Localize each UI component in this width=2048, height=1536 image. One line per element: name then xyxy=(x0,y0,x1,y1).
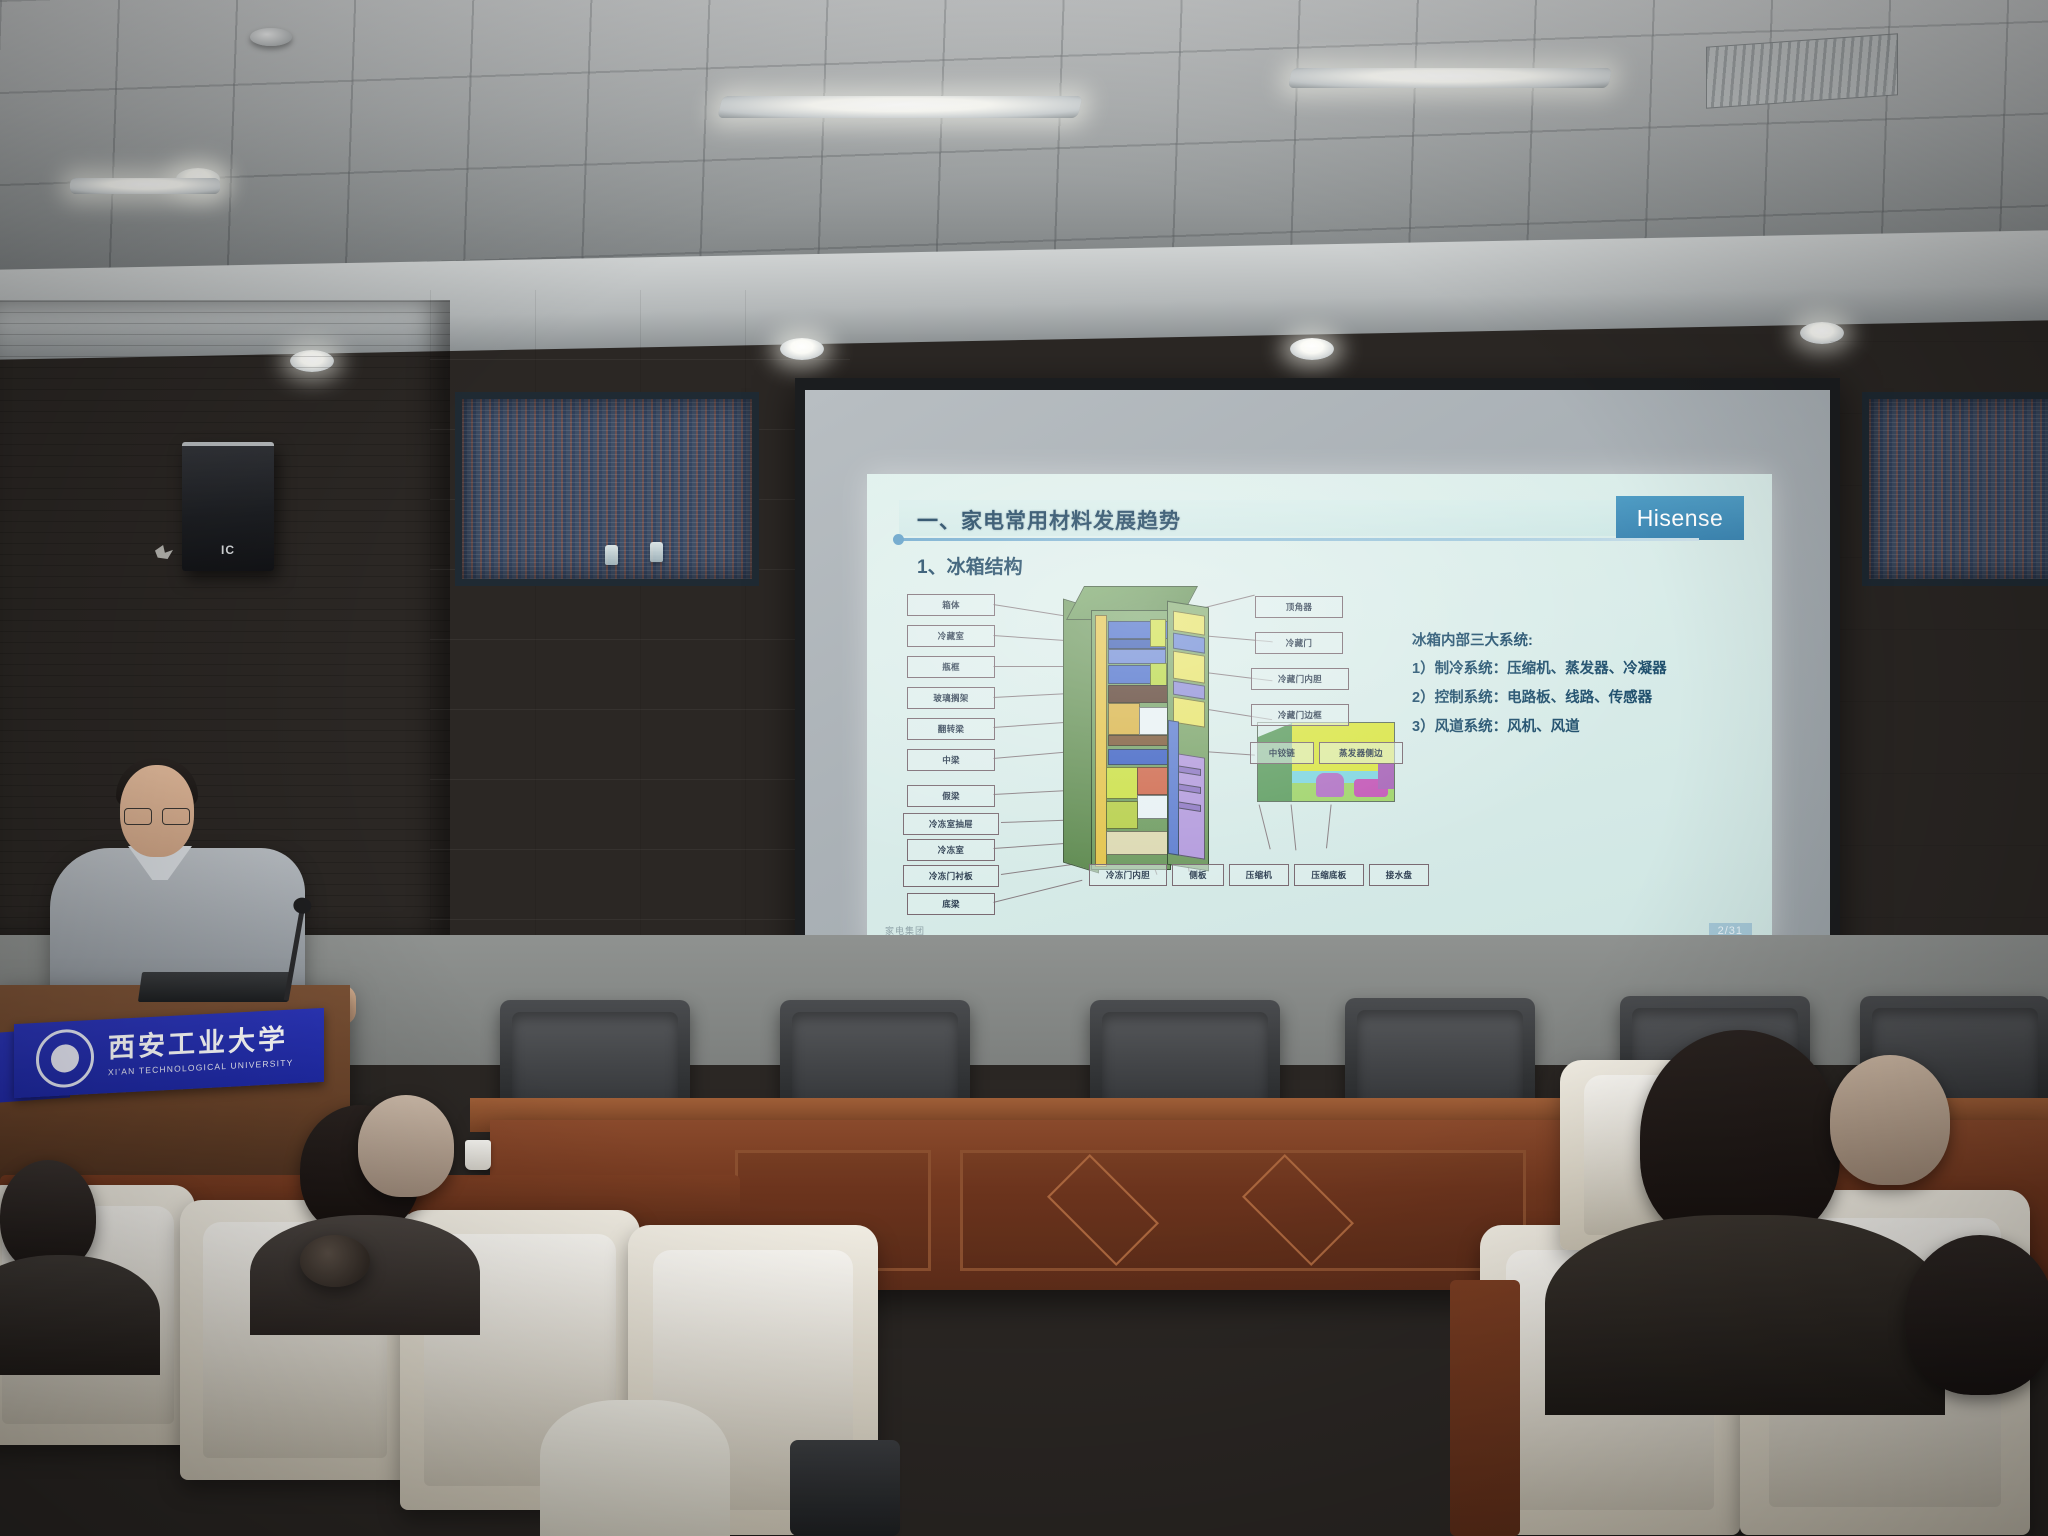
downlight-4 xyxy=(1290,338,1334,360)
diagram-label-bottom-4: 压缩底板 xyxy=(1294,864,1364,886)
fridge-part xyxy=(1139,707,1168,735)
fridge-door xyxy=(1167,601,1209,872)
seat-armrest xyxy=(790,1440,900,1536)
diagram-label-left-11: 底梁 xyxy=(907,893,995,915)
door-edge xyxy=(1168,720,1179,856)
detail-evaporator-side xyxy=(1378,763,1394,789)
fridge-part xyxy=(1108,703,1140,735)
diagram-label-right-1: 顶角器 xyxy=(1255,596,1343,618)
systems-heading: 冰箱内部三大系统: xyxy=(1412,629,1747,650)
system-item-3: 3）风道系统：风机、风道 xyxy=(1412,715,1747,736)
refrigerator-exploded-diagram xyxy=(1063,586,1213,881)
ceiling-strip-light-3 xyxy=(1288,68,1612,88)
wood-wall-left xyxy=(0,300,450,940)
diagram-label-left-9: 冷冻室 xyxy=(907,839,995,861)
fridge-part xyxy=(1137,767,1168,795)
glasses-icon xyxy=(124,808,190,823)
table-panel-2 xyxy=(960,1150,1526,1271)
system-item-1: 1）制冷系统：压缩机、蒸发器、冷凝器 xyxy=(1412,657,1747,678)
slide-title-bar: 一、家电常用材料发展趋势 xyxy=(899,500,1699,536)
slide-subtitle: 1、冰箱结构 xyxy=(917,552,1023,579)
leader-line xyxy=(993,880,1083,903)
fridge-cabinet xyxy=(1091,610,1171,870)
water-bottle-1 xyxy=(605,545,618,565)
audience-head-5 xyxy=(1830,1055,1950,1185)
fridge-part xyxy=(1108,735,1168,746)
audience-shoulders-1 xyxy=(250,1215,480,1335)
fridge-part xyxy=(1108,749,1168,765)
university-seal-icon xyxy=(36,1028,94,1089)
laptop xyxy=(138,972,292,1002)
diagram-label-bottom-5: 接水盘 xyxy=(1369,864,1429,886)
diagram-label-mid-1: 中铰链 xyxy=(1250,742,1314,764)
audience-hair-bun xyxy=(300,1235,370,1287)
diagram-label-right-3: 冷藏门内胆 xyxy=(1251,668,1349,690)
title-bullet-dot-icon xyxy=(893,534,904,545)
fridge-part xyxy=(1137,795,1168,819)
audience-shoulders-4 xyxy=(1545,1215,1945,1415)
lecture-hall-photo: IC 一、家电常用材料发展趋势 Hisense 1、冰箱结构 冰箱内部三大系统:… xyxy=(0,0,2048,1536)
fridge-part xyxy=(1106,767,1138,799)
ceiling-strip-light-2 xyxy=(717,96,1082,118)
acoustic-panel-right xyxy=(1862,392,2048,586)
diagram-label-left-4: 玻璃搁架 xyxy=(907,687,995,709)
fridge-part xyxy=(1095,615,1107,867)
diagram-label-left-10: 冷冻门衬板 xyxy=(903,865,999,887)
slide-section-title: 一、家电常用材料发展趋势 xyxy=(917,505,1181,535)
diagram-label-bottom-2: 侧板 xyxy=(1172,864,1224,886)
hisense-logo: Hisense xyxy=(1616,496,1744,540)
system-item-2: 2）控制系统：电路板、线路、传感器 xyxy=(1412,686,1747,707)
paper-cup xyxy=(465,1140,491,1170)
door-bin xyxy=(1173,651,1205,684)
leader-line xyxy=(1258,804,1270,849)
university-name-cn: 西安工业大学 xyxy=(108,1025,293,1062)
fridge-part xyxy=(1106,801,1138,829)
diagram-label-bottom-1: 冷冻门内胆 xyxy=(1089,864,1167,886)
fridge-part xyxy=(1150,663,1167,687)
ceiling-strip-light-1 xyxy=(70,178,220,194)
water-bottle-2 xyxy=(650,542,663,562)
leader-line xyxy=(993,635,1069,641)
leader-line xyxy=(1290,805,1296,851)
hisense-logo-text: Hisense xyxy=(1637,505,1724,532)
projection-screen: 一、家电常用材料发展趋势 Hisense 1、冰箱结构 冰箱内部三大系统: 1）… xyxy=(805,390,1830,1006)
seat-divider xyxy=(1450,1280,1520,1536)
leader-line xyxy=(1326,805,1332,849)
fridge-part xyxy=(1108,649,1166,664)
presentation-slide: 一、家电常用材料发展趋势 Hisense 1、冰箱结构 冰箱内部三大系统: 1）… xyxy=(867,474,1772,949)
audience-head-4 xyxy=(1640,1030,1840,1245)
door-bin xyxy=(1173,611,1205,636)
audience-head-6 xyxy=(1905,1235,2048,1395)
diagram-label-bottom-3: 压缩机 xyxy=(1229,864,1289,886)
diagram-label-right-2: 冷藏门 xyxy=(1255,632,1343,654)
leader-line xyxy=(993,666,1071,667)
diagram-label-left-8: 冷冻室抽屉 xyxy=(903,813,999,835)
fridge-part xyxy=(1106,831,1168,855)
diagram-label-left-1: 箱体 xyxy=(907,594,995,616)
leader-line xyxy=(993,604,1070,617)
diagram-label-left-6: 中梁 xyxy=(907,749,995,771)
systems-text-block: 冰箱内部三大系统: 1）制冷系统：压缩机、蒸发器、冷凝器 2）控制系统：电路板、… xyxy=(1412,629,1747,744)
title-underline xyxy=(899,538,1699,541)
projection-screen-frame: 一、家电常用材料发展趋势 Hisense 1、冰箱结构 冰箱内部三大系统: 1）… xyxy=(795,378,1840,1016)
diagram-label-left-7: 假梁 xyxy=(907,785,995,807)
audience-shoulders-5 xyxy=(540,1400,730,1536)
speaker-brand-label: IC xyxy=(221,543,235,557)
diagram-label-left-5: 翻转梁 xyxy=(907,718,995,740)
diagram-label-left-2: 冷藏室 xyxy=(907,625,995,647)
detail-compressor xyxy=(1316,773,1344,797)
diagram-label-mid-2: 蒸发器侧边 xyxy=(1319,742,1403,764)
diagram-label-left-3: 瓶框 xyxy=(907,656,995,678)
fridge-part xyxy=(1150,619,1166,647)
wall-speaker: IC xyxy=(182,442,274,571)
smoke-detector xyxy=(250,28,292,46)
diagram-label-right-4: 冷藏门边框 xyxy=(1251,704,1349,726)
audience-head-2 xyxy=(358,1095,454,1197)
lectern-text-block: 西安工业大学 XI'AN TECHNOLOGICAL UNIVERSITY xyxy=(108,1025,293,1077)
fridge-part xyxy=(1108,685,1168,703)
